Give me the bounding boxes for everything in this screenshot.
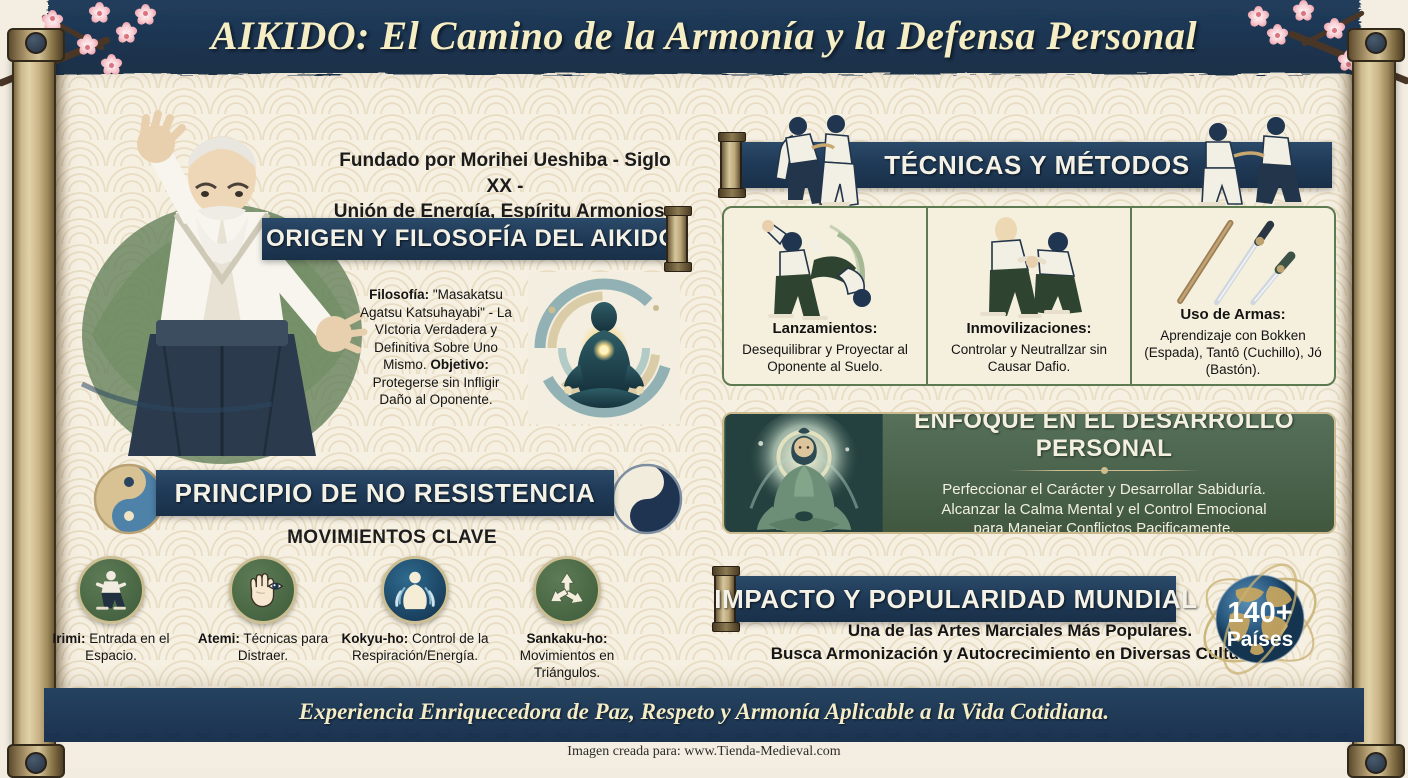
objective-text: Protegerse sin Infligir Daño al Oponente… — [373, 375, 500, 408]
movement-caption-atemi: Atemi: Técnicas para Distraer. — [188, 630, 338, 664]
technique-title-inmovilizaciones: Inmovilizaciones: — [934, 320, 1124, 339]
development-line-2: Alcanzar la Calma Mental y el Control Em… — [884, 500, 1324, 520]
infographic-page: AIKIDO: El Camino de la Armonía y la Def… — [0, 0, 1408, 768]
movement-item-kokyu-ho: Kokyu-ho: Control de la Respiración/Ener… — [340, 556, 490, 664]
techniques-panel: Lanzamientos: Desequilibrar y Proyectar … — [722, 206, 1336, 386]
technique-title-armas: Uso de Armas: — [1138, 306, 1328, 325]
globe-badge-number-text: 140+ — [1227, 597, 1292, 629]
development-body: ENFOQUE EN EL DESARROLLO PERSONAL Perfec… — [884, 412, 1334, 534]
open-hand-eye-icon — [229, 556, 297, 624]
meditation-energy-illustration — [528, 272, 680, 424]
development-divider — [1009, 467, 1199, 475]
section-heading-origin: ORIGEN Y FILOSOFÍA DEL AIKIDO — [262, 218, 682, 260]
footer-tagline: Experiencia Enriquecedora de Paz, Respet… — [44, 699, 1364, 725]
movement-desc-atemi: Técnicas para Distraer. — [238, 631, 328, 663]
philosophy-text: Filosofía: "Masakatsu Agatsu Katsuhayabi… — [356, 286, 516, 409]
technique-desc-lanzamientos: Desequilibrar y Proyectar al Oponente al… — [742, 342, 908, 374]
technique-caption-lanzamientos: Lanzamientos: Desequilibrar y Proyectar … — [730, 320, 920, 375]
triangle-cycle-icon — [533, 556, 601, 624]
movements-label: MOVIMIENTOS CLAVE — [92, 527, 692, 549]
technique-card-lanzamientos: Lanzamientos: Desequilibrar y Proyectar … — [724, 208, 926, 384]
scroll-rod-right — [1352, 58, 1396, 748]
page-title: AIKIDO: El Camino de la Armonía y la Def… — [0, 12, 1408, 59]
development-line-3: para Manejar Conflictos Pacificamente. — [884, 519, 1324, 534]
yin-yang-icon-left — [92, 462, 166, 536]
section-heading-impact-label: IMPACTO Y POPULARIDAD MUNDIAL — [714, 584, 1198, 615]
globe-badge-label-text: Países — [1227, 628, 1294, 651]
yin-yang-icon-right — [610, 462, 684, 536]
development-panel: ENFOQUE EN EL DESARROLLO PERSONAL Perfec… — [722, 412, 1336, 534]
throw-illustration — [730, 216, 920, 320]
technique-caption-armas: Uso de Armas: Aprendizaje con Bokken (Es… — [1138, 306, 1328, 378]
credit-line: Imagen creada para: www.Tienda-Medieval.… — [0, 744, 1408, 760]
globe-badge: 140+ Países — [1196, 560, 1324, 678]
section-heading-techniques-label: TÉCNICAS Y MÉTODOS — [884, 150, 1190, 181]
objective-label: Objetivo: — [430, 357, 489, 372]
movement-item-sankaku-ho: Sankaku-ho: Movimientos en Triángulos. — [492, 556, 642, 681]
aikido-pair-illustration-right — [1180, 112, 1320, 208]
breathing-energy-icon — [381, 556, 449, 624]
buddha-meditation-illustration — [724, 414, 884, 532]
movement-desc-sankaku-ho: Movimientos en Triángulos. — [520, 648, 615, 680]
movement-caption-sankaku-ho: Sankaku-ho: Movimientos en Triángulos. — [492, 630, 642, 681]
technique-desc-armas: Aprendizaje con Bokken (Espada), Tantô (… — [1144, 328, 1322, 377]
development-line-1: Perfeccionar el Carácter y Desarrollar S… — [884, 480, 1324, 500]
scroll-cap-origin — [666, 210, 688, 268]
technique-card-armas: Uso de Armas: Aprendizaje con Bokken (Es… — [1130, 208, 1334, 384]
section-heading-impact: IMPACTO Y POPULARIDAD MUNDIAL — [736, 576, 1176, 622]
movement-caption-kokyu-ho: Kokyu-ho: Control de la Respiración/Ener… — [340, 630, 490, 664]
scroll-cap-techniques — [720, 136, 742, 194]
weapons-illustration — [1138, 216, 1328, 306]
movement-name-irimi: Irimi: — [52, 631, 85, 646]
movement-item-irimi: Irimi: Entrada en el Espacio. — [36, 556, 186, 664]
technique-title-lanzamientos: Lanzamientos: — [730, 320, 920, 339]
movement-item-atemi: Atemi: Técnicas para Distraer. — [188, 556, 338, 664]
movement-name-kokyu-ho: Kokyu-ho: — [341, 631, 408, 646]
footer-banner: Experiencia Enriquecedora de Paz, Respet… — [44, 688, 1364, 742]
aikidoka-stance-icon — [77, 556, 145, 624]
philosophy-label: Filosofía: — [369, 287, 429, 302]
section-heading-no-resistance-label: PRINCIPIO DE NO RESISTENCIA — [175, 478, 596, 509]
movement-caption-irimi: Irimi: Entrada en el Espacio. — [36, 630, 186, 664]
scroll-finial-top-left — [25, 32, 47, 54]
scroll-finial-top-right — [1365, 32, 1387, 54]
technique-desc-inmovilizaciones: Controlar y Neutrallzar sin Causar Dafio… — [951, 342, 1107, 374]
technique-card-inmovilizaciones: Inmovilizaciones: Controlar y Neutrallza… — [926, 208, 1130, 384]
founder-text: Fundado por Morihei Ueshiba - Siglo XX -… — [330, 148, 680, 225]
movement-desc-irimi: Entrada en el Espacio. — [85, 631, 169, 663]
aikido-pair-illustration-left — [756, 108, 886, 208]
section-heading-no-resistance: PRINCIPIO DE NO RESISTENCIA — [156, 470, 614, 516]
pin-illustration — [934, 216, 1124, 320]
section-heading-development: ENFOQUE EN EL DESARROLLO PERSONAL — [884, 412, 1324, 463]
movement-name-sankaku-ho: Sankaku-ho: — [526, 631, 607, 646]
development-text: Perfeccionar el Carácter y Desarrollar S… — [884, 480, 1324, 534]
movement-name-atemi: Atemi: — [198, 631, 240, 646]
technique-caption-inmovilizaciones: Inmovilizaciones: Controlar y Neutrallza… — [934, 320, 1124, 375]
section-heading-origin-label: ORIGEN Y FILOSOFÍA DEL AIKIDO — [266, 225, 678, 253]
founder-line-1: Fundado por Morihei Ueshiba - Siglo XX - — [330, 148, 680, 199]
morihei-ueshiba-illustration — [72, 84, 372, 464]
